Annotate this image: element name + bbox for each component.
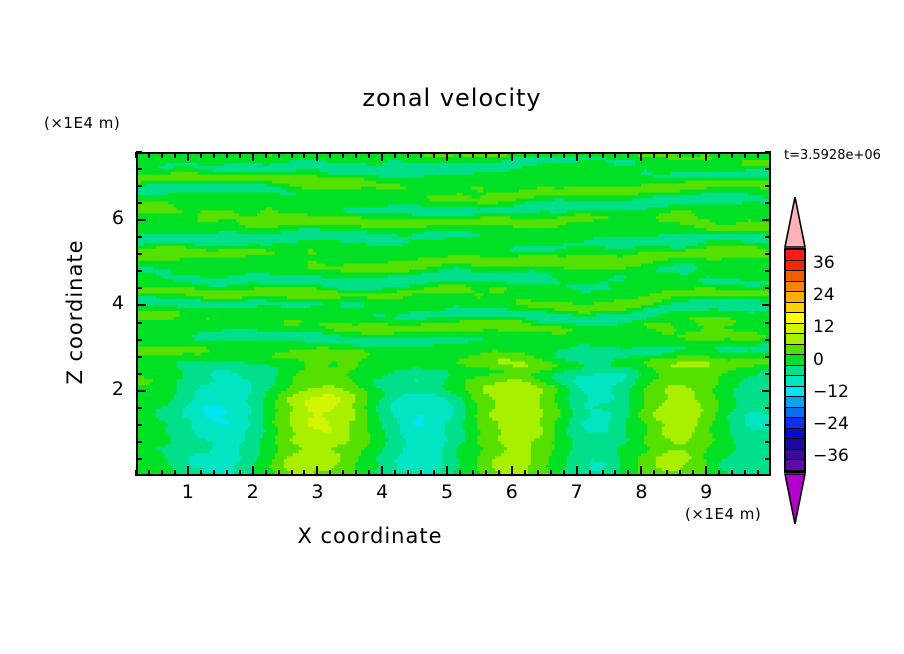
x-minor-tick [355, 470, 357, 476]
x-minor-tick [161, 152, 163, 158]
x-minor-tick [148, 152, 150, 158]
x-minor-tick [550, 470, 552, 476]
x-minor-tick [679, 470, 681, 476]
x-minor-tick [718, 470, 720, 476]
x-minor-tick [278, 470, 280, 476]
y-minor-tick [136, 151, 142, 153]
y-major-tick [136, 219, 146, 221]
colorbar-band [786, 408, 804, 419]
x-major-tick [252, 466, 254, 476]
x-minor-tick [602, 470, 604, 476]
colorbar-band [786, 324, 804, 335]
x-minor-tick [303, 470, 305, 476]
x-minor-tick [368, 152, 370, 158]
y-minor-tick [136, 441, 142, 443]
x-minor-tick [653, 470, 655, 476]
x-tick-label: 3 [297, 481, 337, 503]
y-major-tick [762, 304, 771, 306]
x-minor-tick [433, 470, 435, 476]
x-major-tick [640, 152, 642, 161]
x-minor-tick [744, 470, 746, 476]
colorbar-band [786, 450, 804, 461]
x-minor-tick [303, 152, 305, 158]
x-minor-tick [472, 470, 474, 476]
colorbar-over-arrow [784, 196, 806, 248]
colorbar: 3624120−12−24−36 [780, 196, 810, 526]
x-minor-tick [602, 152, 604, 158]
x-major-tick [446, 152, 448, 161]
x-minor-tick [239, 470, 241, 476]
x-minor-tick [459, 470, 461, 476]
x-minor-tick [563, 470, 565, 476]
x-minor-tick [213, 152, 215, 158]
x-minor-tick [472, 152, 474, 158]
x-minor-tick [213, 470, 215, 476]
colorbar-band [786, 355, 804, 366]
contour-field [138, 154, 769, 474]
colorbar-tick-label: −24 [813, 414, 849, 434]
y-minor-tick [765, 151, 771, 153]
x-tick-label: 1 [168, 481, 208, 503]
colorbar-tick-label: −36 [813, 446, 849, 466]
x-major-tick [316, 152, 318, 161]
x-minor-tick [342, 152, 344, 158]
x-major-tick [252, 152, 254, 161]
y-minor-tick [136, 339, 142, 341]
x-minor-tick [239, 152, 241, 158]
y-major-tick [136, 304, 146, 306]
y-minor-tick [765, 253, 771, 255]
page-title: zonal velocity [0, 84, 904, 112]
x-minor-tick [744, 152, 746, 158]
x-minor-tick [666, 470, 668, 476]
x-minor-tick [342, 470, 344, 476]
x-minor-tick [174, 152, 176, 158]
colorbar-band [786, 366, 804, 377]
x-minor-tick [278, 152, 280, 158]
colorbar-band [786, 429, 804, 440]
x-major-tick [640, 466, 642, 476]
x-minor-tick [485, 470, 487, 476]
y-minor-tick [765, 287, 771, 289]
x-minor-tick [627, 470, 629, 476]
x-major-tick [381, 466, 383, 476]
colorbar-band [786, 250, 804, 261]
y-minor-tick [765, 407, 771, 409]
x-minor-tick [614, 152, 616, 158]
x-major-tick [187, 466, 189, 476]
x-minor-tick [394, 470, 396, 476]
x-minor-tick [757, 152, 759, 158]
y-minor-tick [136, 407, 142, 409]
y-minor-tick [136, 322, 142, 324]
colorbar-band [786, 387, 804, 398]
x-minor-tick [550, 152, 552, 158]
y-minor-tick [765, 202, 771, 204]
x-minor-tick [329, 152, 331, 158]
time-annotation: t=3.5928e+06 [784, 148, 881, 163]
x-minor-tick [589, 470, 591, 476]
x-minor-tick [731, 152, 733, 158]
x-minor-tick [666, 152, 668, 158]
x-minor-tick [653, 152, 655, 158]
y-minor-tick [136, 270, 142, 272]
x-minor-tick [420, 470, 422, 476]
x-minor-tick [524, 470, 526, 476]
y-minor-tick [136, 253, 142, 255]
colorbar-band [786, 313, 804, 324]
colorbar-band [786, 460, 804, 471]
x-major-tick [705, 152, 707, 161]
colorbar-tick-label: 24 [813, 285, 835, 305]
x-minor-tick [265, 470, 267, 476]
colorbar-tick-label: −12 [813, 382, 849, 402]
y-axis-title: Z coordinate [63, 217, 87, 407]
x-minor-tick [265, 152, 267, 158]
colorbar-band [786, 345, 804, 356]
x-major-tick [576, 466, 578, 476]
x-minor-tick [420, 152, 422, 158]
x-minor-tick [161, 470, 163, 476]
x-minor-tick [200, 152, 202, 158]
x-major-tick [381, 152, 383, 161]
x-minor-tick [627, 152, 629, 158]
x-major-tick [187, 152, 189, 161]
y-major-tick [762, 219, 771, 221]
x-minor-tick [200, 470, 202, 476]
y-minor-tick [136, 373, 142, 375]
y-minor-tick [765, 185, 771, 187]
colorbar-band [786, 376, 804, 387]
colorbar-band [786, 292, 804, 303]
x-major-tick [511, 152, 513, 161]
colorbar-tick-label: 12 [813, 317, 835, 337]
x-minor-tick [485, 152, 487, 158]
colorbar-band [786, 271, 804, 282]
x-minor-tick [135, 470, 137, 476]
y-axis-unit-label: (×1E4 m) [44, 114, 120, 132]
x-major-tick [446, 466, 448, 476]
y-major-tick [762, 390, 771, 392]
x-minor-tick [524, 152, 526, 158]
x-minor-tick [563, 152, 565, 158]
x-axis-title: X coordinate [0, 524, 740, 548]
x-minor-tick [394, 152, 396, 158]
y-minor-tick [136, 185, 142, 187]
x-tick-label: 2 [233, 481, 273, 503]
colorbar-under-arrow [784, 473, 806, 525]
x-minor-tick [679, 152, 681, 158]
x-minor-tick [291, 470, 293, 476]
x-minor-tick [537, 470, 539, 476]
x-minor-tick [174, 470, 176, 476]
x-tick-label: 6 [492, 481, 532, 503]
x-minor-tick [757, 470, 759, 476]
x-minor-tick [589, 152, 591, 158]
y-minor-tick [765, 424, 771, 426]
y-tick-label: 6 [96, 207, 124, 229]
x-minor-tick [731, 470, 733, 476]
colorbar-band [786, 439, 804, 450]
x-minor-tick [407, 152, 409, 158]
x-tick-label: 5 [427, 481, 467, 503]
x-minor-tick [718, 152, 720, 158]
x-tick-label: 8 [621, 481, 661, 503]
colorbar-band [786, 334, 804, 345]
x-major-tick [576, 152, 578, 161]
x-minor-tick [291, 152, 293, 158]
x-tick-label: 7 [557, 481, 597, 503]
contour-plot-area [136, 152, 771, 476]
y-minor-tick [136, 424, 142, 426]
x-minor-tick [459, 152, 461, 158]
x-minor-tick [692, 152, 694, 158]
x-minor-tick [148, 470, 150, 476]
colorbar-band [786, 397, 804, 408]
y-minor-tick [136, 202, 142, 204]
y-minor-tick [765, 322, 771, 324]
x-minor-tick [498, 152, 500, 158]
colorbar-band [786, 303, 804, 314]
x-minor-tick [226, 470, 228, 476]
y-minor-tick [136, 168, 142, 170]
y-minor-tick [136, 236, 142, 238]
y-tick-label: 4 [96, 292, 124, 314]
x-major-tick [705, 466, 707, 476]
y-minor-tick [765, 458, 771, 460]
x-minor-tick [433, 152, 435, 158]
y-minor-tick [765, 339, 771, 341]
colorbar-bands [784, 248, 806, 473]
x-tick-label: 4 [362, 481, 402, 503]
x-minor-tick [407, 470, 409, 476]
x-major-tick [316, 466, 318, 476]
x-minor-tick [692, 470, 694, 476]
y-minor-tick [136, 458, 142, 460]
x-minor-tick [537, 152, 539, 158]
colorbar-band [786, 282, 804, 293]
x-minor-tick [226, 152, 228, 158]
y-minor-tick [765, 168, 771, 170]
x-axis-unit-label: (×1E4 m) [685, 505, 761, 523]
x-minor-tick [614, 470, 616, 476]
colorbar-band [786, 261, 804, 272]
colorbar-tick-label: 0 [813, 350, 824, 370]
x-major-tick [511, 466, 513, 476]
y-minor-tick [765, 373, 771, 375]
colorbar-band [786, 418, 804, 429]
y-minor-tick [765, 356, 771, 358]
y-tick-label: 2 [96, 378, 124, 400]
y-minor-tick [765, 270, 771, 272]
x-minor-tick [498, 470, 500, 476]
x-minor-tick [329, 470, 331, 476]
x-minor-tick [368, 470, 370, 476]
y-minor-tick [136, 356, 142, 358]
y-minor-tick [765, 441, 771, 443]
x-tick-label: 9 [686, 481, 726, 503]
y-minor-tick [765, 236, 771, 238]
y-major-tick [136, 390, 146, 392]
colorbar-tick-label: 36 [813, 253, 835, 273]
x-minor-tick [355, 152, 357, 158]
y-minor-tick [136, 287, 142, 289]
